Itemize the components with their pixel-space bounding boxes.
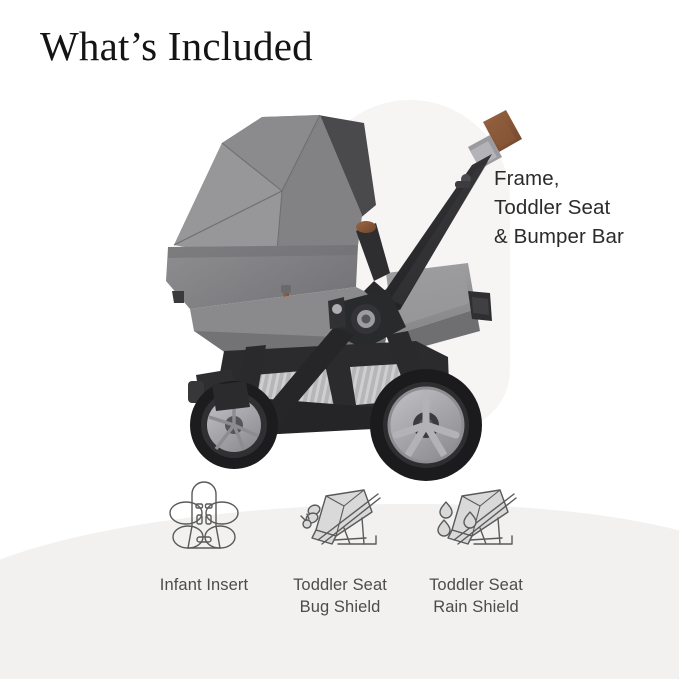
toddler-seat-bug-shield-icon [292,478,388,560]
accessory-label-line: Infant Insert [160,574,248,596]
toddler-seat-rain-shield-icon [428,478,524,560]
infant-insert-icon [156,478,252,560]
accessory-item-infant-insert: Infant Insert [140,478,268,596]
page-title: What’s Included [40,22,313,70]
accessory-label-line: Bug Shield [293,596,387,618]
accessory-item-rain-shield: Toddler Seat Rain Shield [412,478,540,618]
accessory-label-bug-shield: Toddler Seat Bug Shield [293,574,387,618]
accessory-label-line: Toddler Seat [293,574,387,596]
accessory-item-bug-shield: Toddler Seat Bug Shield [276,478,404,618]
accessory-label-infant-insert: Infant Insert [160,574,248,596]
accessory-label-line: Rain Shield [429,596,523,618]
infographic-page: What’s Included Frame, Toddler Seat & Bu… [0,0,679,679]
accessory-label-line: Toddler Seat [429,574,523,596]
accessory-label-rain-shield: Toddler Seat Rain Shield [429,574,523,618]
front-wheel [190,381,278,469]
stroller-illustration [150,95,550,485]
bumper-bar-leather-tip [356,221,376,233]
rear-wheel [370,369,482,481]
accessory-list: Infant Insert [140,478,540,618]
